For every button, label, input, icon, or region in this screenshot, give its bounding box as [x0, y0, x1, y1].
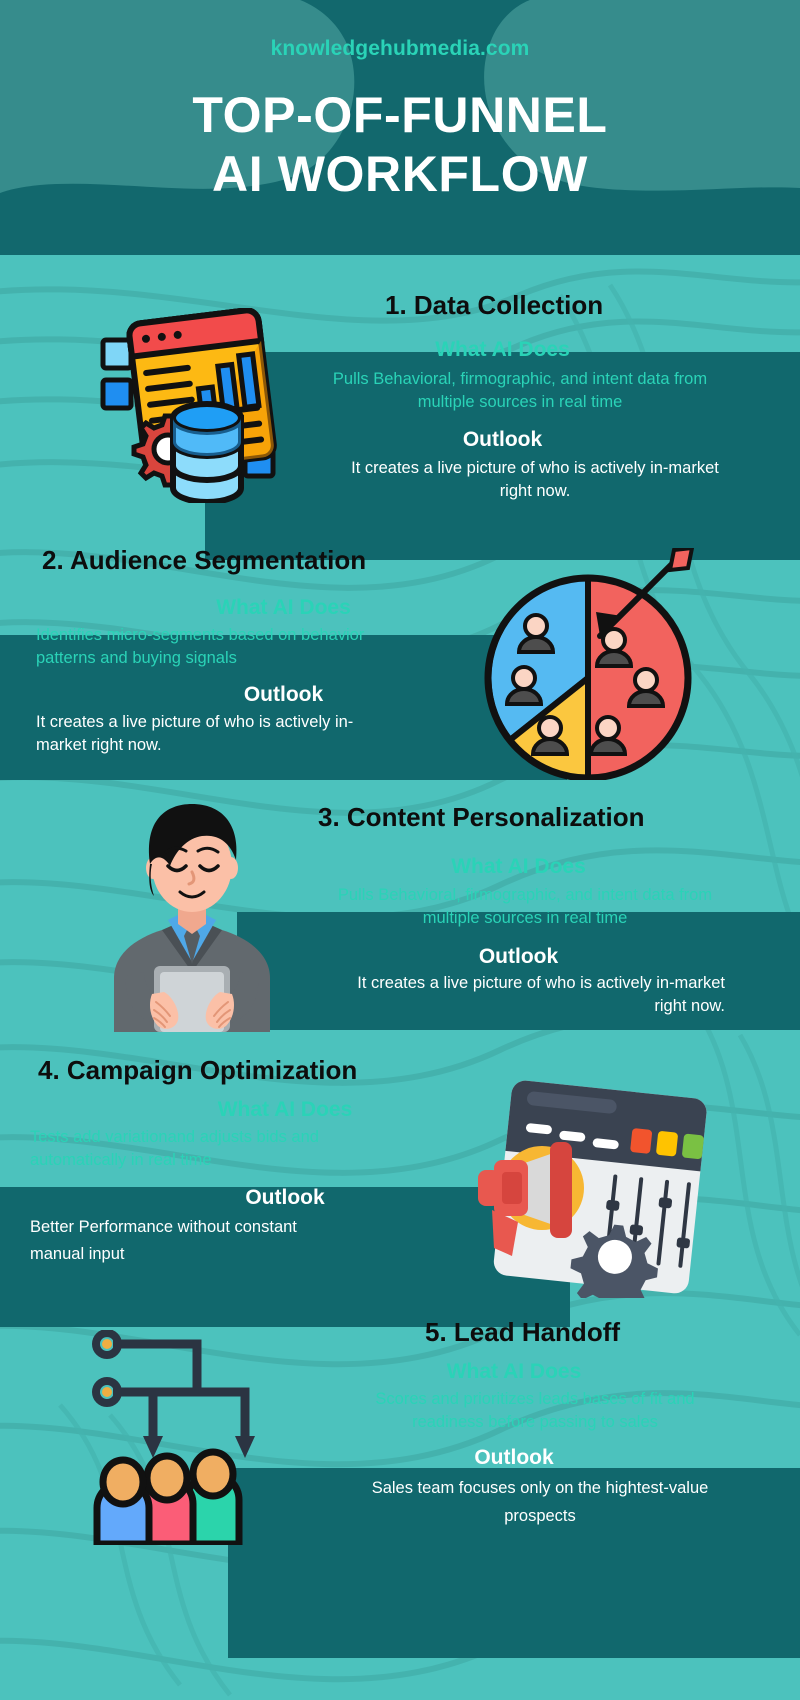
section-2-outlook-text: It creates a live picture of who is acti… — [36, 711, 366, 757]
section-3-outlook-text: It creates a live picture of who is acti… — [330, 972, 725, 1018]
section-1-outlook-text: It creates a live picture of who is acti… — [350, 457, 720, 503]
dashboard-database-gear-icon — [95, 308, 310, 503]
section-4-what-ai-does-text: Tests add variationand adjusts bids and … — [30, 1126, 360, 1172]
section-3-what-ai-does-text: Pulls Behavioral, firmographic, and inte… — [325, 884, 725, 930]
section-2-title: 2. Audience Segmentation — [42, 545, 366, 576]
section-1-what-ai-does-text: Pulls Behavioral, firmographic, and inte… — [320, 368, 720, 414]
section-5-title: 5. Lead Handoff — [425, 1317, 620, 1348]
infographic-page: knowledgehubmedia.com TOP-OF-FUNNEL AI W… — [0, 0, 800, 1700]
section-4-outlook-text: Better Performance without constant manu… — [30, 1214, 330, 1267]
section-3-what-ai-does-label: What AI Does — [237, 855, 800, 879]
page-title: TOP-OF-FUNNEL AI WORKFLOW — [0, 86, 800, 204]
section-2-what-ai-does-text: Identifies micro-segments based on behav… — [36, 624, 376, 670]
title-line-1: TOP-OF-FUNNEL — [192, 87, 607, 143]
section-5-what-ai-does-label: What AI Does — [228, 1360, 800, 1384]
title-line-2: AI WORKFLOW — [0, 145, 800, 204]
section-4-title: 4. Campaign Optimization — [38, 1055, 357, 1086]
section-5-what-ai-does-text: Scores and prioritizes leads bases of fi… — [340, 1388, 730, 1434]
pie-chart-audience-target-icon — [470, 548, 700, 780]
section-3-title: 3. Content Personalization — [318, 802, 645, 833]
site-url: knowledgehubmedia.com — [0, 37, 800, 61]
section-5-outlook-label: Outlook — [228, 1446, 800, 1470]
section-1-title: 1. Data Collection — [385, 290, 603, 321]
section-5-outlook-text: Sales team focuses only on the hightest-… — [350, 1474, 730, 1531]
megaphone-mixer-gear-icon — [466, 1078, 716, 1298]
section-3-outlook-label: Outlook — [237, 945, 800, 969]
header-banner: knowledgehubmedia.com TOP-OF-FUNNEL AI W… — [0, 0, 800, 255]
person-with-tablet-icon — [92, 796, 292, 1032]
flowchart-people-handoff-icon — [85, 1330, 305, 1545]
